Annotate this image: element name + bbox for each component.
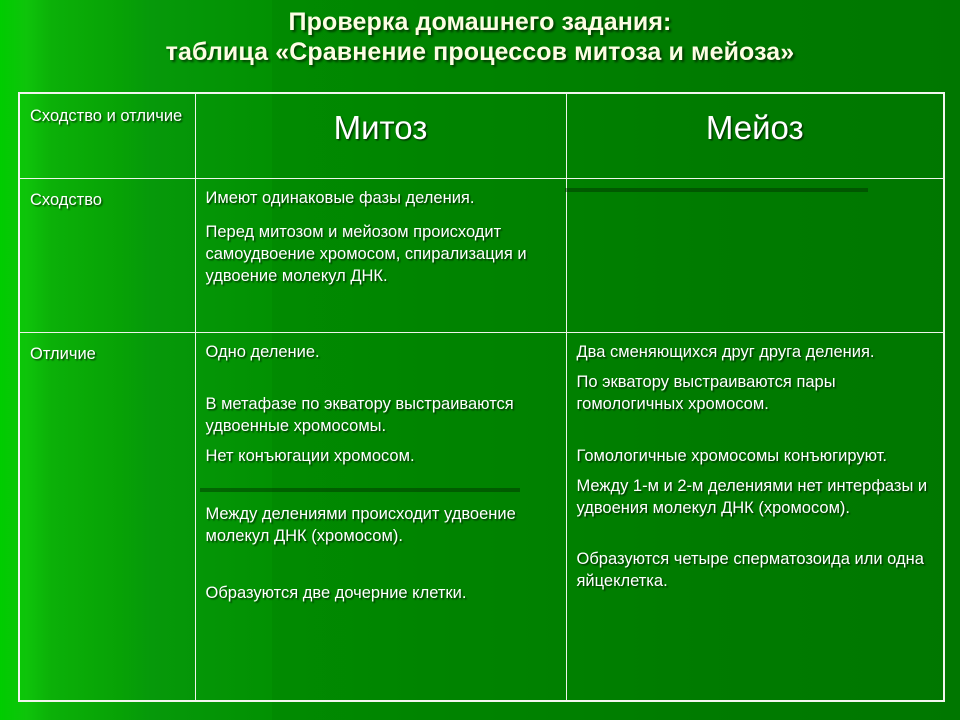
cell-paragraph: По экватору выстраиваются пары гомологич… — [577, 372, 934, 416]
cell-difference-mitosis: Одно деление. В метафазе по экватору выс… — [195, 332, 566, 701]
cell-similarity-mitosis: Имеют одинаковые фазы деления. Перед мит… — [195, 178, 566, 332]
cell-similarity-meiosis — [566, 178, 944, 332]
cell-paragraph: В метафазе по экватору выстраиваются удв… — [206, 394, 556, 438]
row-label-difference: Отличие — [19, 332, 195, 701]
cell-difference-meiosis: Два сменяющихся друг друга деления. По э… — [566, 332, 944, 701]
table-row: Отличие Одно деление. В метафазе по эква… — [19, 332, 944, 701]
cell-paragraph: Одно деление. — [206, 342, 556, 364]
column-header-meiosis: Мейоз — [566, 93, 944, 178]
cell-paragraph: Перед митозом и мейозом происходит самоу… — [206, 222, 556, 288]
cell-paragraph: Между 1-м и 2-м делениями нет интерфазы … — [577, 476, 934, 520]
column-header-mitosis: Митоз — [195, 93, 566, 178]
table-row: Сходство Имеют одинаковые фазы деления. … — [19, 178, 944, 332]
page-title: Проверка домашнего задания: таблица «Сра… — [0, 8, 960, 67]
cell-paragraph: Гомологичные хромосомы конъюгируют. — [577, 446, 934, 468]
cell-paragraph: Образуются две дочерние клетки. — [206, 583, 556, 605]
table-header-row: Сходство и отличие Митоз Мейоз — [19, 93, 944, 178]
comparison-table: Сходство и отличие Митоз Мейоз Сходство … — [18, 92, 945, 702]
cell-paragraph: Между делениями происходит удвоение моле… — [206, 504, 556, 548]
cell-paragraph: Два сменяющихся друг друга деления. — [577, 342, 934, 364]
cell-paragraph: Имеют одинаковые фазы деления. — [206, 188, 556, 210]
slide-canvas: Проверка домашнего задания: таблица «Сра… — [0, 0, 960, 720]
cell-paragraph: Образуются четыре сперматозоида или одна… — [577, 549, 934, 593]
row-label-similarity: Сходство — [19, 178, 195, 332]
cell-paragraph: Нет конъюгации хромосом. — [206, 446, 556, 468]
page-title-line-1: Проверка домашнего задания: — [0, 8, 960, 38]
page-title-line-2: таблица «Сравнение процессов митоза и ме… — [0, 38, 960, 68]
column-header-criterion: Сходство и отличие — [19, 93, 195, 178]
